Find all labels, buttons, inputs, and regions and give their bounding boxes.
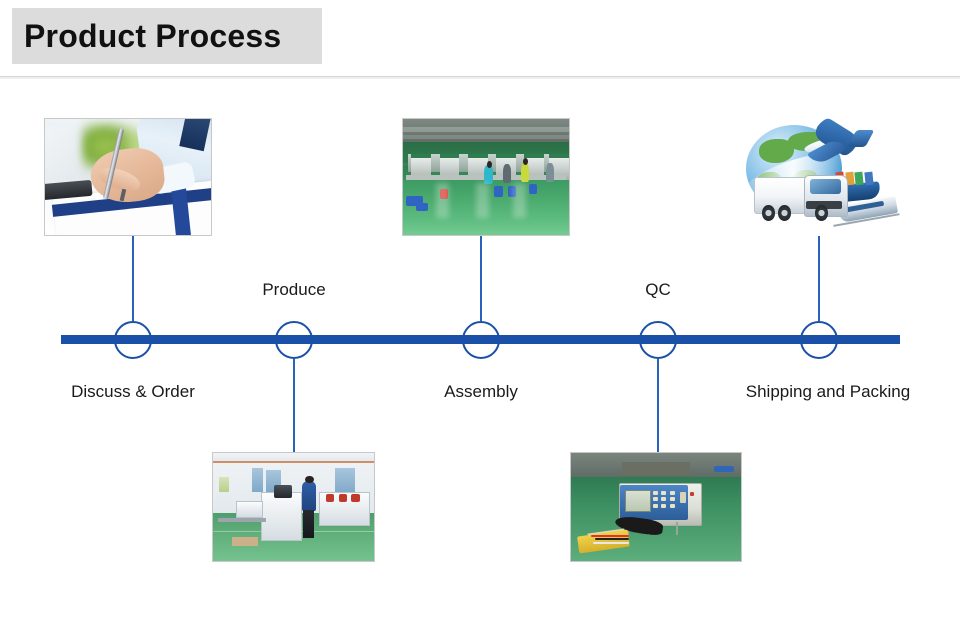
step-photo-produce	[212, 452, 375, 562]
connector-qc	[657, 359, 659, 452]
page-title: Product Process	[12, 20, 281, 52]
step-label-assembly: Assembly	[444, 383, 518, 400]
timeline-node-assembly[interactable]	[462, 321, 500, 359]
step-label-shipping-packing: Shipping and Packing	[746, 383, 910, 400]
timeline-node-shipping-packing[interactable]	[800, 321, 838, 359]
connector-assembly	[480, 236, 482, 321]
slide-canvas: Product Process	[0, 0, 960, 617]
step-photo-discuss-order	[44, 118, 212, 236]
connector-shipping-packing	[818, 236, 820, 321]
step-label-produce: Produce	[262, 281, 325, 298]
connector-discuss-order	[132, 236, 134, 321]
step-label-qc: QC	[645, 281, 671, 298]
step-label-discuss-order: Discuss & Order	[71, 383, 195, 400]
step-photo-qc	[570, 452, 742, 562]
timeline-node-qc[interactable]	[639, 321, 677, 359]
timeline-node-produce[interactable]	[275, 321, 313, 359]
step-photo-assembly	[402, 118, 570, 236]
page-title-box: Product Process	[12, 8, 322, 64]
connector-produce	[293, 359, 295, 452]
timeline-node-discuss-order[interactable]	[114, 321, 152, 359]
step-photo-shipping-packing	[740, 118, 900, 236]
header-divider-shadow	[0, 77, 960, 79]
